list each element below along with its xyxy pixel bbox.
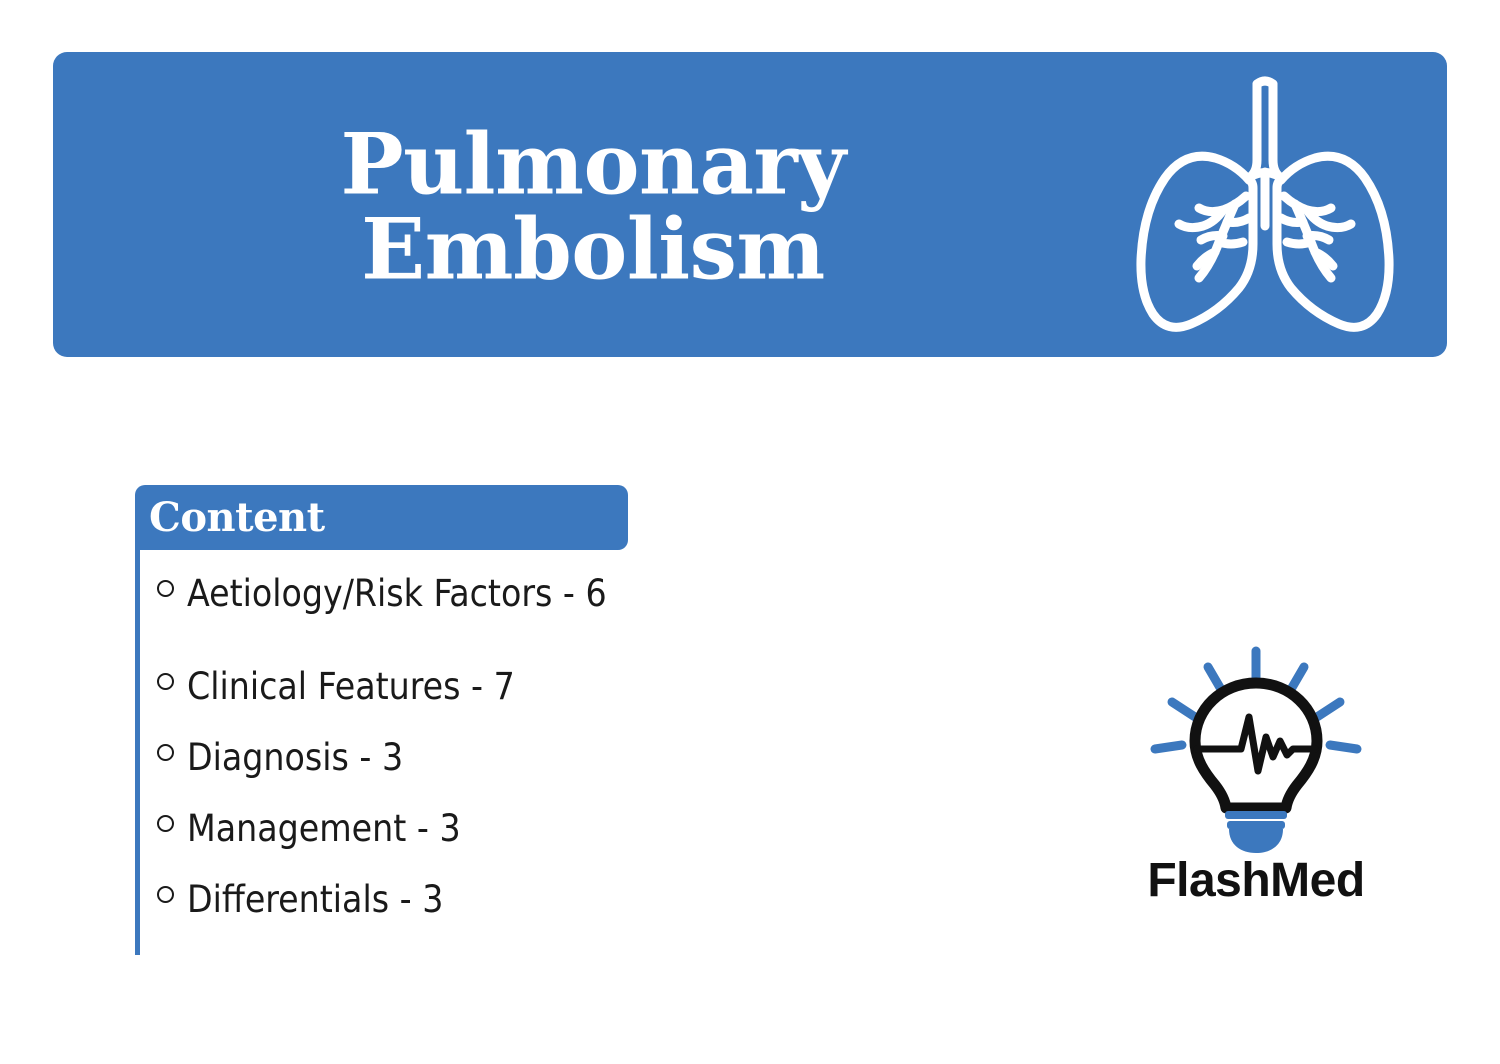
- title-banner: Pulmonary Embolism: [53, 52, 1447, 357]
- list-item-label: Aetiology/Risk Factors - 6: [187, 572, 607, 615]
- list-item-label: Diagnosis - 3: [187, 736, 403, 779]
- brand-logo: FlashMed: [1125, 645, 1387, 893]
- list-item-label: Clinical Features - 7: [187, 665, 515, 708]
- content-section: Content Aetiology/Risk Factors - 6 Clini…: [135, 485, 628, 955]
- lightbulb-ecg-icon: [1125, 645, 1387, 855]
- bulb-rays: [1155, 651, 1357, 749]
- hollow-circle-bullet-icon: [157, 580, 174, 597]
- content-header: Content: [135, 485, 628, 550]
- list-item[interactable]: Management - 3: [140, 807, 628, 878]
- bulb-base: [1225, 811, 1287, 829]
- brand-name: FlashMed: [1125, 857, 1387, 905]
- content-heading: Content: [135, 498, 325, 538]
- hollow-circle-bullet-icon: [157, 744, 174, 761]
- title-line-1: Pulmonary: [53, 121, 1133, 207]
- page-title: Pulmonary Embolism: [53, 117, 1133, 292]
- hollow-circle-bullet-icon: [157, 673, 174, 690]
- lungs-icon: [1115, 76, 1415, 334]
- list-item-label: Differentials - 3: [187, 878, 443, 921]
- list-item[interactable]: Clinical Features - 7: [140, 665, 628, 736]
- list-item-label: Management - 3: [187, 807, 461, 850]
- content-list: Aetiology/Risk Factors - 6 Clinical Feat…: [140, 550, 628, 949]
- list-item[interactable]: Aetiology/Risk Factors - 6: [140, 550, 628, 665]
- content-body: Aetiology/Risk Factors - 6 Clinical Feat…: [135, 550, 628, 955]
- hollow-circle-bullet-icon: [157, 886, 174, 903]
- list-item[interactable]: Differentials - 3: [140, 878, 628, 949]
- list-item[interactable]: Diagnosis - 3: [140, 736, 628, 807]
- title-line-2: Embolism: [53, 207, 1133, 293]
- ecg-line: [1197, 717, 1315, 771]
- hollow-circle-bullet-icon: [157, 815, 174, 832]
